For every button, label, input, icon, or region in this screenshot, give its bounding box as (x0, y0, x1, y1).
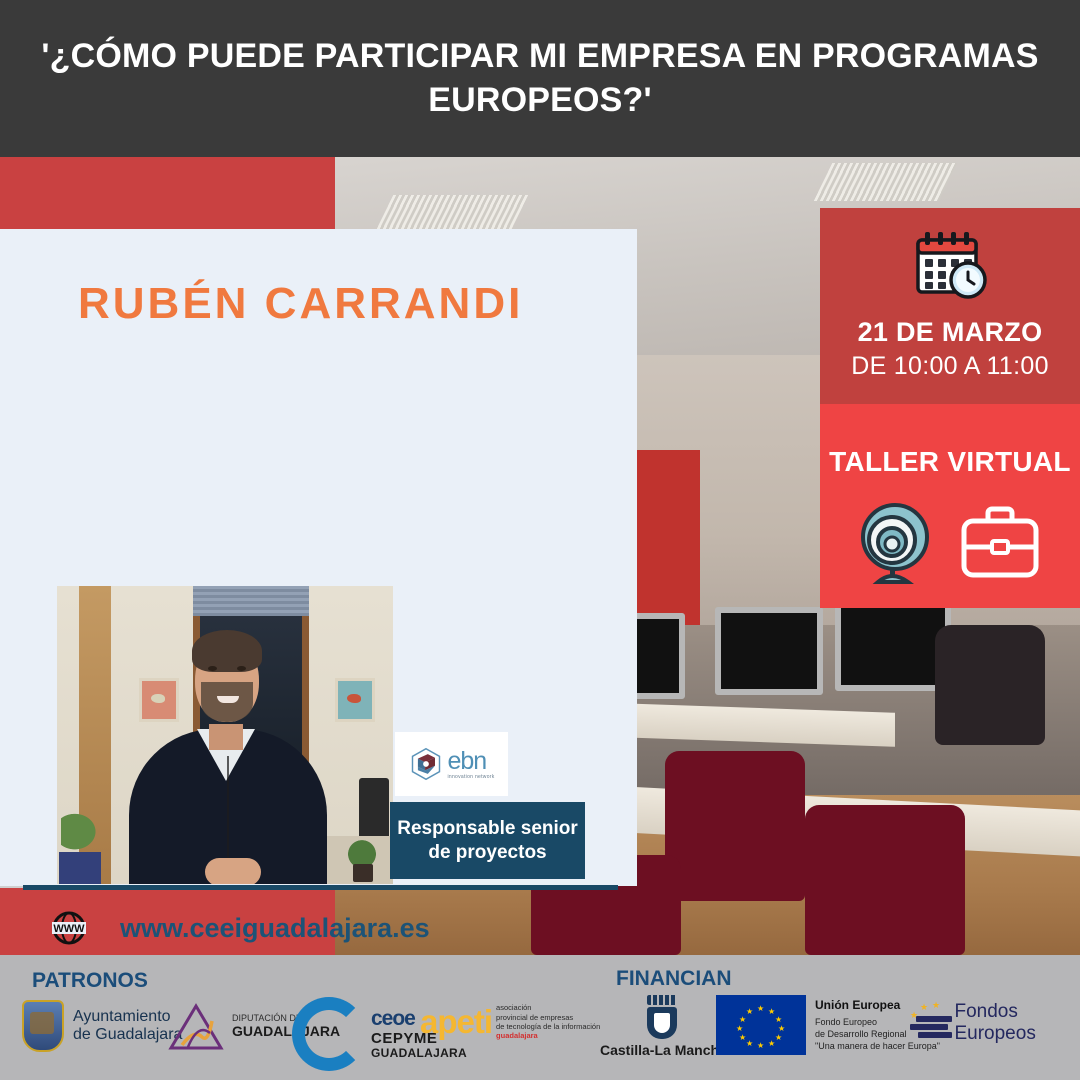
apeti-line-3: de tecnología de la información (496, 1022, 600, 1031)
microphone-cable (227, 756, 229, 861)
framed-picture (139, 678, 179, 722)
framed-picture (335, 678, 375, 722)
ceoe-line-3: GUADALAJARA (371, 1047, 467, 1060)
webcam-icon (858, 500, 936, 589)
fondos-europeos-icon: ★ ★ ★ (908, 1002, 946, 1044)
role-line-1: Responsable senior (397, 817, 578, 840)
person-eye (208, 666, 217, 671)
person-mouth (217, 696, 239, 703)
fondos-europeos-label: Fondos Europeos (954, 1001, 1080, 1045)
background-books (59, 852, 101, 884)
event-time: DE 10:00 A 11:00 (851, 352, 1049, 381)
title-band: '¿CÓMO PUEDE PARTICIPAR MI EMPRESA EN PR… (0, 0, 1080, 157)
chair (665, 751, 805, 901)
bird-art (347, 694, 361, 703)
logo-union-europea: ★ ★ ★ ★ ★ ★ ★ ★ ★ ★ ★ ★ Unión Europea Fo… (716, 995, 940, 1055)
svg-text:WWW: WWW (53, 923, 85, 935)
apeti-line-1: asociación (496, 1003, 600, 1012)
ebn-logo: ebn innovation network (395, 732, 508, 796)
person-neck (209, 724, 243, 750)
event-format-panel: TALLER VIRTUAL (820, 404, 1080, 608)
ceiling-light (814, 163, 958, 201)
ceoe-c-icon (292, 997, 366, 1071)
person-eye (237, 666, 246, 671)
monitor (835, 599, 951, 691)
apeti-line-2: provincial de empresas (496, 1013, 600, 1022)
apeti-wordmark: apeti (420, 1003, 492, 1041)
poster: '¿CÓMO PUEDE PARTICIPAR MI EMPRESA EN PR… (0, 0, 1080, 1080)
bird-art (151, 694, 165, 703)
logo-ayuntamiento-guadalajara: Ayuntamiento de Guadalajara (22, 1000, 182, 1052)
logo-apeti: apeti asociación provincial de empresas … (420, 1003, 600, 1041)
chair (805, 805, 965, 955)
event-date-panel: 21 DE MARZO DE 10:00 A 11:00 (820, 208, 1080, 404)
globe-www-icon: WWW (40, 908, 98, 948)
ebn-wordmark: ebn (447, 749, 494, 774)
castilla-label: Castilla-La Mancha (600, 1042, 727, 1058)
ayto-line-2: de Guadalajara (73, 1026, 182, 1044)
diputacion-triangle-icon (168, 1003, 224, 1051)
person-hands (205, 858, 261, 884)
coat-of-arms-icon (22, 1000, 64, 1052)
background-leaf (61, 804, 107, 850)
logo-castilla-la-mancha: Castilla-La Mancha (600, 995, 727, 1058)
role-line-2: de proyectos (428, 841, 546, 864)
red-accent-top (0, 157, 335, 233)
logo-fondos-europeos: ★ ★ ★ Fondos Europeos (908, 1001, 1080, 1045)
speaker-name: RUBÉN CARRANDI (78, 279, 523, 329)
chair (935, 625, 1045, 745)
ebn-hexagon-icon (408, 746, 444, 782)
ayto-line-1: Ayuntamiento (73, 1008, 182, 1026)
ebn-tagline: innovation network (447, 775, 494, 780)
person-hair (192, 630, 262, 672)
poster-title: '¿CÓMO PUEDE PARTICIPAR MI EMPRESA EN PR… (40, 35, 1040, 121)
eu-flag-icon: ★ ★ ★ ★ ★ ★ ★ ★ ★ ★ ★ ★ (716, 995, 806, 1055)
calendar-clock-icon (908, 230, 992, 307)
apeti-line-4: guadalajara (496, 1031, 600, 1040)
speaker-portrait (57, 586, 393, 884)
briefcase-icon (958, 505, 1042, 584)
footer: PATRONOS FINANCIAN Ayuntamiento de Guada… (0, 955, 1080, 1080)
website-text: www.ceeiguadalajara.es (120, 913, 430, 944)
speaker-card: RUBÉN CARRANDI (0, 229, 637, 886)
monitor (715, 607, 823, 695)
contact-row-website[interactable]: WWW www.ceeiguadalajara.es (40, 905, 436, 951)
castilla-shield-icon (647, 995, 679, 1039)
window-blind (193, 586, 309, 616)
background-monitor (359, 778, 389, 844)
speaker-role-box: Responsable senior de proyectos (390, 802, 585, 879)
card-divider (23, 885, 618, 890)
event-format: TALLER VIRTUAL (820, 446, 1080, 478)
financian-label: FINANCIAN (616, 967, 732, 991)
patronos-label: PATRONOS (32, 969, 148, 993)
plant-pot (353, 864, 373, 882)
event-date: 21 DE MARZO (858, 317, 1043, 348)
